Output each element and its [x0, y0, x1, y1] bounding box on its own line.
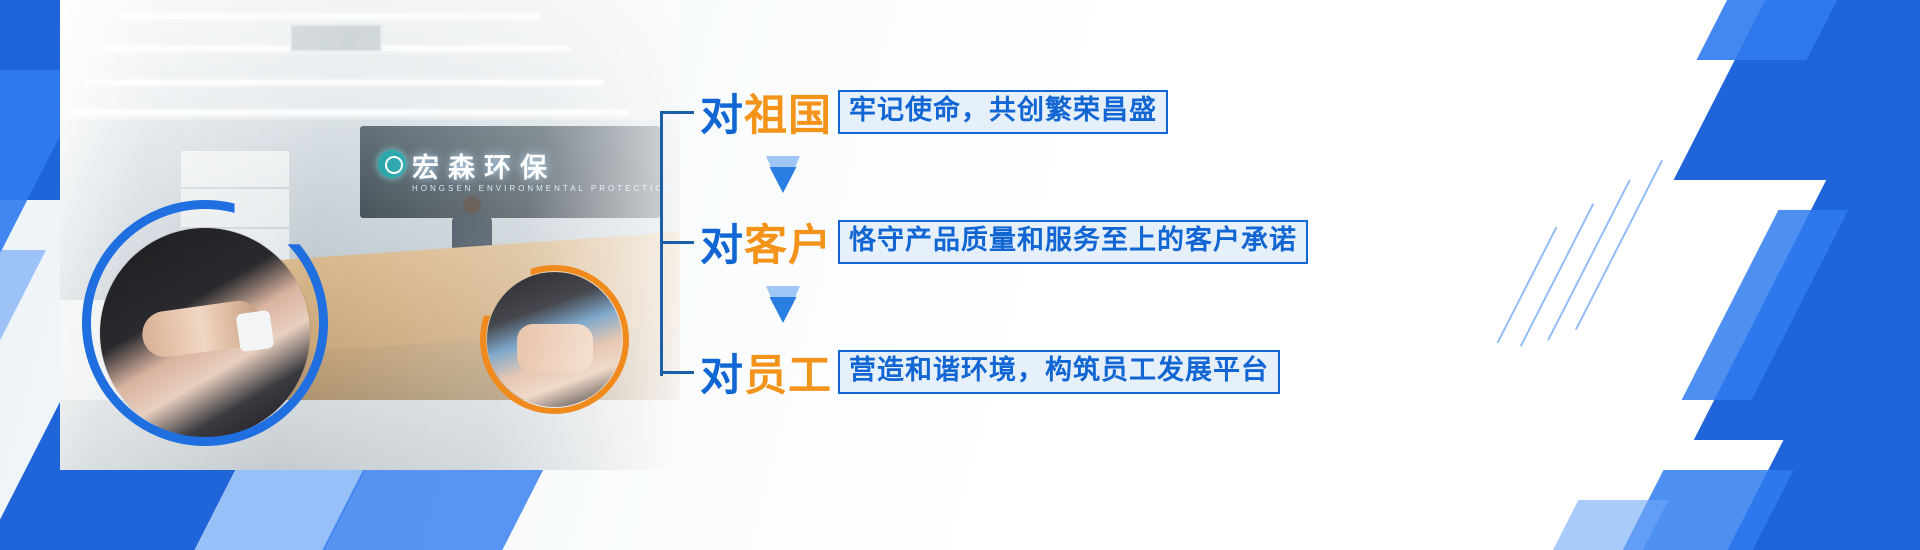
globe-logo-icon: [378, 150, 406, 178]
label-prefix: 对: [700, 91, 744, 141]
decor-shape-bottom-right-3: [1482, 500, 1669, 550]
commitment-label-employee: 对员工: [700, 341, 832, 403]
decor-shape-top-left-4: [0, 250, 46, 470]
reception-sign-panel: [360, 126, 660, 218]
commitment-row-employee: 对员工 营造和谐环境，构筑员工发展平台: [660, 344, 1280, 400]
chevron-down-icon-1: [766, 156, 800, 193]
decor-hairline-2: [1547, 179, 1631, 340]
tree-branch-line: [660, 111, 694, 114]
commitment-statement-employee: 营造和谐环境，构筑员工发展平台: [838, 350, 1280, 394]
label-prefix: 对: [700, 351, 744, 401]
tree-branch-line: [660, 241, 694, 244]
promo-banner: 宏森环保 HONGSEN ENVIRONMENTAL PROTECTION 对祖…: [0, 0, 1920, 550]
commitment-row-customer: 对客户 恪守产品质量和服务至上的客户承诺: [660, 214, 1308, 270]
commitment-statement-country: 牢记使命，共创繁荣昌盛: [838, 90, 1168, 134]
chevron-down-icon-2: [766, 286, 800, 323]
label-keyword: 祖国: [744, 91, 832, 141]
tree-branch-line: [660, 371, 694, 374]
label-keyword: 员工: [744, 351, 832, 401]
commitment-tree: 对祖国 牢记使命，共创繁荣昌盛 对客户 恪守产品质量和服务至上的客户承诺 对员工…: [660, 72, 1360, 402]
ceiling: [60, 0, 680, 140]
ceiling-vent: [290, 24, 382, 52]
decor-hairline-1: [1575, 160, 1663, 330]
commitment-label-country: 对祖国: [700, 81, 832, 143]
label-keyword: 客户: [744, 221, 832, 271]
commitment-row-country: 对祖国 牢记使命，共创繁荣昌盛: [660, 84, 1168, 140]
company-name: 宏森环保: [412, 146, 556, 185]
commitment-label-customer: 对客户: [700, 211, 832, 273]
decor-hairline-4: [1497, 227, 1558, 344]
receptionist: [450, 196, 494, 266]
label-prefix: 对: [700, 221, 744, 271]
company-subtitle: HONGSEN ENVIRONMENTAL PROTECTION: [412, 184, 673, 193]
commitment-statement-customer: 恪守产品质量和服务至上的客户承诺: [838, 220, 1308, 264]
